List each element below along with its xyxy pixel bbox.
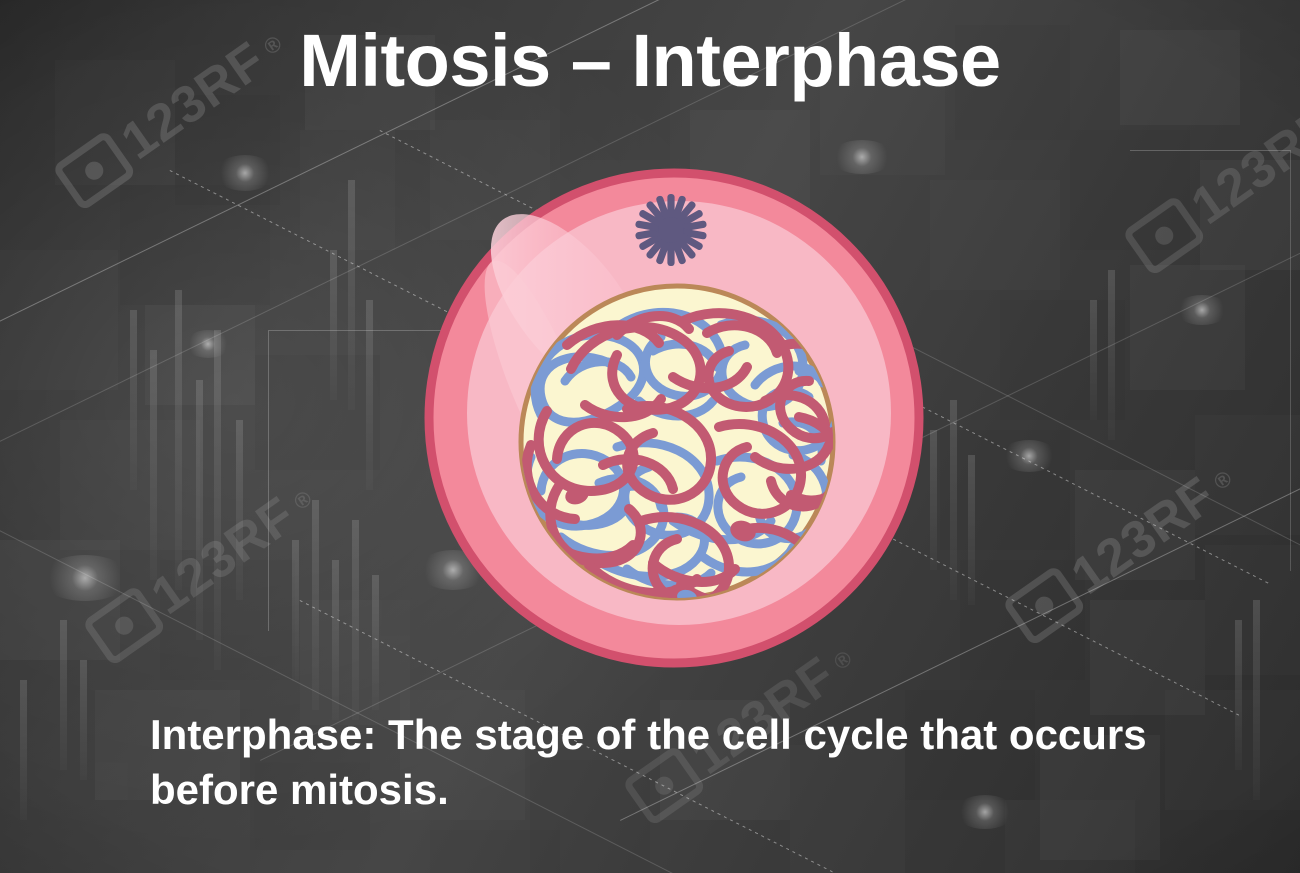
background-glow-dot-6: [1000, 440, 1058, 472]
illustration-canvas: 123RF ® 123RF ® 123RF ® 123RF ® 123RF ®: [0, 0, 1300, 873]
page-title: Mitosis – Interphase: [0, 22, 1300, 100]
background-glow-dot-2: [185, 330, 231, 358]
caption-text: Interphase: The stage of the cell cycle …: [150, 708, 1190, 817]
background-glow-dot: [215, 155, 275, 191]
background-glow-dot-7: [1175, 295, 1229, 325]
cell-diagram: [421, 165, 927, 671]
